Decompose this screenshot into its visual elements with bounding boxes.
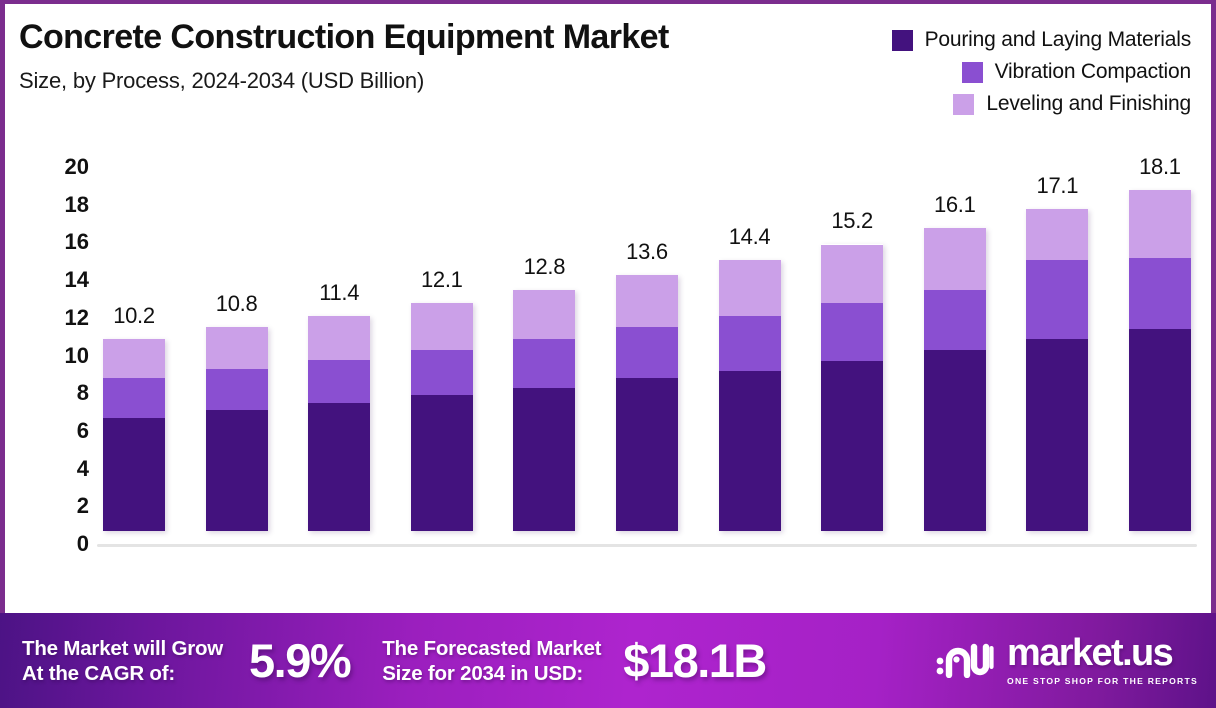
bar-group[interactable]: 16.1 <box>922 154 988 544</box>
x-axis-baseline <box>97 544 1197 547</box>
y-axis-tick-label: 12 <box>65 305 89 331</box>
square-swatch-1 <box>892 30 913 51</box>
bar-value-label: 13.6 <box>626 239 668 265</box>
bar-segment[interactable] <box>103 418 165 531</box>
brand-tagline: ONE STOP SHOP FOR THE REPORTS <box>1007 676 1198 686</box>
bar-segment[interactable] <box>616 327 678 378</box>
bar-value-label: 16.1 <box>934 192 976 218</box>
bar-segment[interactable] <box>308 403 370 531</box>
bar-series-container: 10.210.811.412.112.813.614.415.216.117.1… <box>101 154 1193 544</box>
bar-segment[interactable] <box>616 378 678 531</box>
legend-item-label: Vibration Compaction <box>995 60 1191 84</box>
infographic-frame: Concrete Construction Equipment Market S… <box>0 0 1216 708</box>
y-axis-tick-label: 20 <box>65 154 89 180</box>
legend-item-label: Pouring and Laying Materials <box>925 28 1191 52</box>
bar-segment[interactable] <box>513 290 575 339</box>
stacked-bar[interactable] <box>103 339 165 531</box>
header: Concrete Construction Equipment Market S… <box>19 18 809 94</box>
y-axis-tick-label: 2 <box>77 493 89 519</box>
chart-legend: Pouring and Laying MaterialsVibration Co… <box>892 28 1191 116</box>
bar-segment[interactable] <box>924 350 986 531</box>
chart-plot-area: 20181614121086420 10.210.811.412.112.813… <box>5 154 1211 604</box>
page-title: Concrete Construction Equipment Market <box>19 18 809 57</box>
bar-group[interactable]: 11.4 <box>306 154 372 544</box>
brand-logo: market.us ONE STOP SHOP FOR THE REPORTS <box>936 635 1198 685</box>
bar-value-label: 10.8 <box>216 291 258 317</box>
bar-value-label: 14.4 <box>729 224 771 250</box>
bar-segment[interactable] <box>719 260 781 317</box>
y-axis-tick-label: 6 <box>77 418 89 444</box>
stacked-bar[interactable] <box>411 303 473 531</box>
bar-segment[interactable] <box>513 388 575 531</box>
bar-segment[interactable] <box>719 371 781 531</box>
bar-segment[interactable] <box>411 350 473 395</box>
bar-segment[interactable] <box>206 410 268 531</box>
page-subtitle: Size, by Process, 2024-2034 (USD Billion… <box>19 68 809 94</box>
bar-group[interactable]: 15.2 <box>819 154 885 544</box>
stacked-bar[interactable] <box>513 290 575 531</box>
y-axis-tick-label: 10 <box>65 343 89 369</box>
bar-group[interactable]: 12.1 <box>409 154 475 544</box>
bar-group[interactable]: 12.8 <box>511 154 577 544</box>
cagr-value: 5.9% <box>249 633 350 688</box>
stacked-bar[interactable] <box>206 327 268 531</box>
bar-value-label: 17.1 <box>1037 173 1079 199</box>
bar-value-label: 10.2 <box>113 303 155 329</box>
legend-item[interactable]: Vibration Compaction <box>962 60 1191 84</box>
forecast-caption-line2: Size for 2034 in USD: <box>382 661 601 686</box>
y-axis-tick-label: 8 <box>77 380 89 406</box>
cagr-caption-line2: At the CAGR of: <box>22 661 223 686</box>
bar-segment[interactable] <box>513 339 575 388</box>
forecast-caption: The Forecasted Market Size for 2034 in U… <box>382 636 601 686</box>
bar-segment[interactable] <box>1129 190 1191 258</box>
legend-item[interactable]: Pouring and Laying Materials <box>892 28 1191 52</box>
cagr-caption-line1: The Market will Grow <box>22 636 223 661</box>
footer-banner: The Market will Grow At the CAGR of: 5.9… <box>0 613 1216 708</box>
stacked-bar[interactable] <box>1129 190 1191 531</box>
bar-segment[interactable] <box>719 316 781 371</box>
bar-value-label: 12.1 <box>421 267 463 293</box>
bar-group[interactable]: 10.8 <box>204 154 270 544</box>
brand-wordmark: market.us ONE STOP SHOP FOR THE REPORTS <box>1007 635 1198 685</box>
bar-segment[interactable] <box>1026 339 1088 531</box>
bar-segment[interactable] <box>103 339 165 379</box>
bar-segment[interactable] <box>821 361 883 531</box>
bar-segment[interactable] <box>821 303 883 361</box>
stacked-bar[interactable] <box>616 275 678 531</box>
stacked-bar[interactable] <box>308 316 370 531</box>
y-axis-tick-label: 0 <box>77 531 89 557</box>
bar-value-label: 18.1 <box>1139 154 1181 180</box>
brand-name: market.us <box>1007 635 1198 671</box>
bar-group[interactable]: 17.1 <box>1024 154 1090 544</box>
market-us-logo-icon <box>936 638 994 683</box>
bar-segment[interactable] <box>1129 258 1191 330</box>
bar-segment[interactable] <box>616 275 678 328</box>
cagr-caption: The Market will Grow At the CAGR of: <box>22 636 223 686</box>
bar-segment[interactable] <box>308 360 370 403</box>
square-swatch-2 <box>962 62 983 83</box>
legend-item[interactable]: Leveling and Finishing <box>953 92 1191 116</box>
stacked-bar[interactable] <box>1026 209 1088 531</box>
bar-value-label: 11.4 <box>319 280 359 306</box>
legend-item-label: Leveling and Finishing <box>986 92 1191 116</box>
bar-group[interactable]: 10.2 <box>101 154 167 544</box>
bar-segment[interactable] <box>1026 209 1088 260</box>
bar-segment[interactable] <box>821 245 883 303</box>
bar-group[interactable]: 14.4 <box>717 154 783 544</box>
bar-segment[interactable] <box>924 228 986 290</box>
bar-segment[interactable] <box>206 327 268 368</box>
bar-value-label: 12.8 <box>524 254 566 280</box>
stacked-bar[interactable] <box>821 244 883 531</box>
forecast-value: $18.1B <box>623 633 766 688</box>
bar-group[interactable]: 18.1 <box>1127 154 1193 544</box>
y-axis-tick-label: 18 <box>65 192 89 218</box>
bar-segment[interactable] <box>1129 329 1191 531</box>
square-swatch-3 <box>953 94 974 115</box>
bar-segment[interactable] <box>103 378 165 418</box>
bar-segment[interactable] <box>411 303 473 350</box>
bar-segment[interactable] <box>1026 260 1088 339</box>
bar-group[interactable]: 13.6 <box>614 154 680 544</box>
bar-segment[interactable] <box>924 290 986 350</box>
bar-segment[interactable] <box>411 395 473 531</box>
y-axis-tick-label: 16 <box>65 229 89 255</box>
bar-value-label: 15.2 <box>831 208 873 234</box>
stacked-bar[interactable] <box>924 228 986 531</box>
stacked-bar[interactable] <box>719 260 781 531</box>
bar-segment[interactable] <box>308 316 370 359</box>
y-axis-tick-label: 4 <box>77 456 89 482</box>
y-axis: 20181614121086420 <box>33 167 89 544</box>
forecast-caption-line1: The Forecasted Market <box>382 636 601 661</box>
y-axis-tick-label: 14 <box>65 267 89 293</box>
bar-segment[interactable] <box>206 369 268 410</box>
